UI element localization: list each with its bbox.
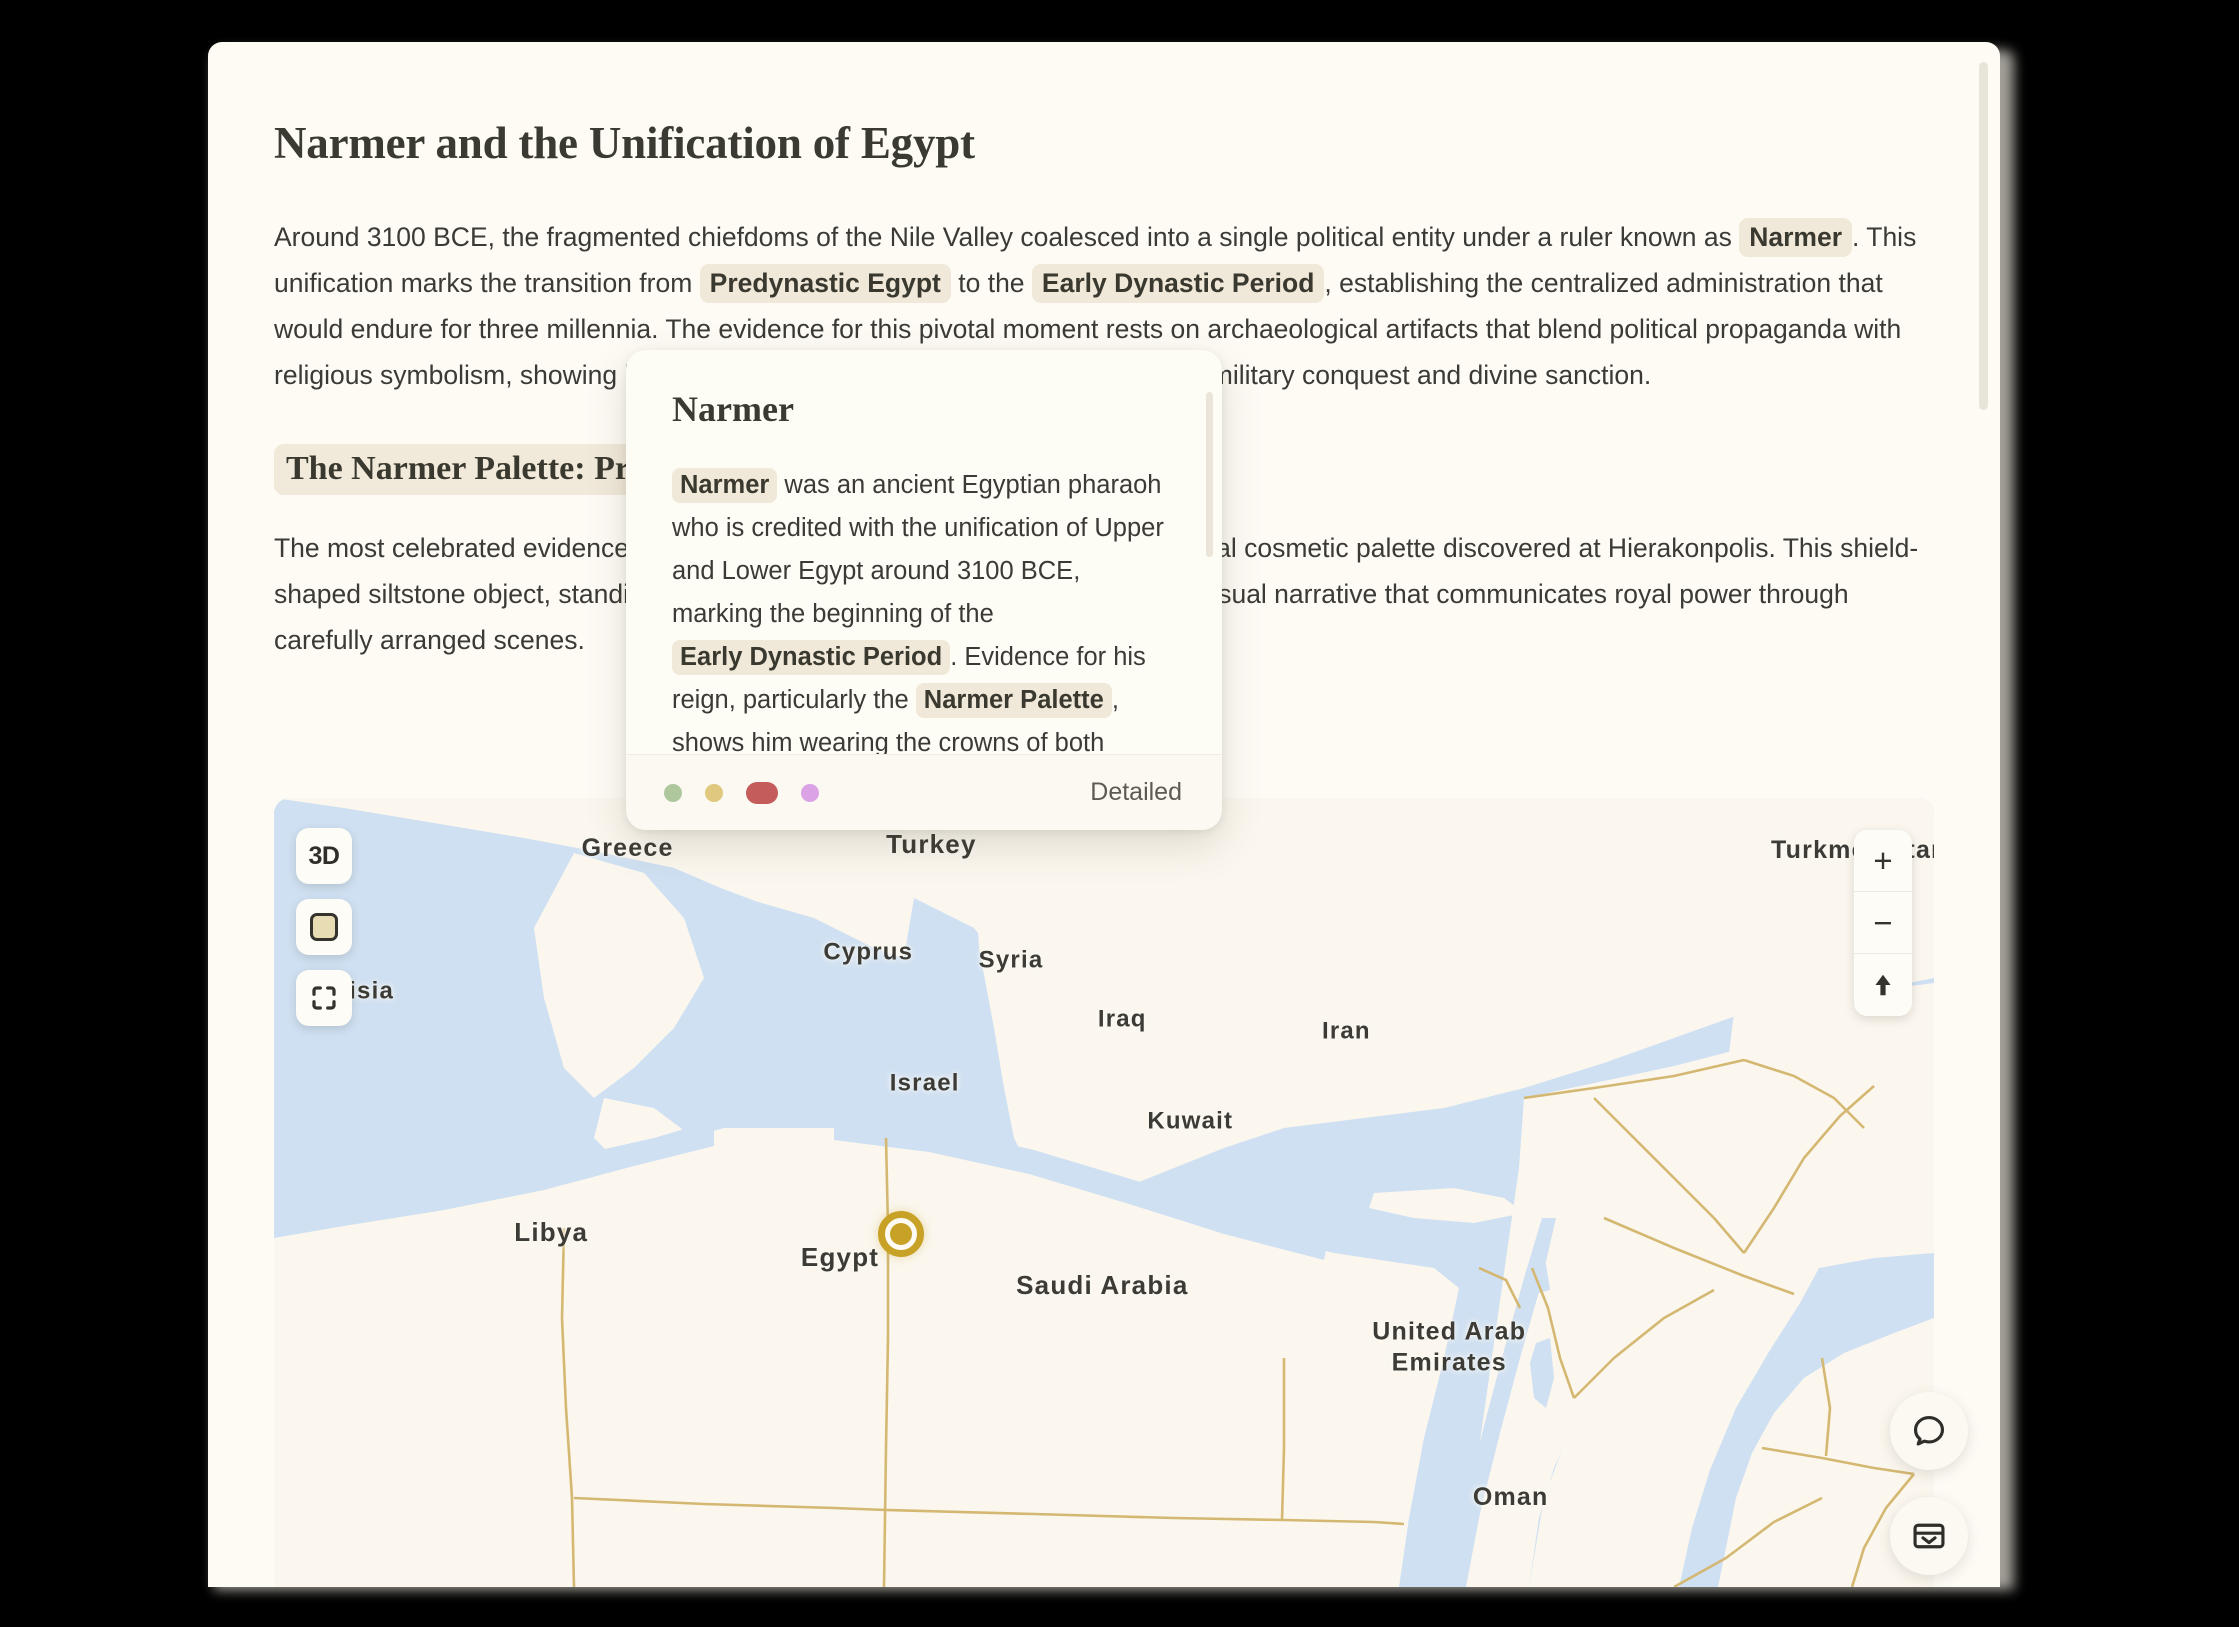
entity-early-dynastic-period[interactable]: Early Dynastic Period [1032,264,1324,303]
chat-bubble-icon [1910,1412,1948,1450]
north-arrow-icon [1870,971,1896,999]
map-controls-right: + − [1854,830,1912,1016]
map-3d-button[interactable]: 3D [296,828,352,884]
entity-narmer[interactable]: Narmer [1739,218,1852,257]
layers-square-icon [310,913,338,941]
dot-detailed[interactable] [746,782,778,804]
map-compass-button[interactable] [1854,954,1912,1016]
map-canvas[interactable]: Greece Turkey Turkmenistan Cyprus Syria … [274,798,1934,1587]
plus-icon: + [1873,844,1892,877]
page-scrollbar-thumb[interactable] [1979,62,1988,410]
dot-expert[interactable] [801,784,819,802]
popover-footer: Detailed [626,754,1222,830]
map-3d-label: 3D [309,842,340,871]
map-zoom-in-button[interactable]: + [1854,830,1912,892]
fullscreen-brackets-icon [309,983,339,1013]
inbox-button[interactable] [1890,1497,1968,1575]
egypt-location-marker-core [890,1223,912,1245]
inbox-icon [1910,1517,1948,1555]
minus-icon: − [1873,906,1892,939]
chat-bubble-button[interactable] [1890,1392,1968,1470]
entity-popover[interactable]: Narmer Narmer was an ancient Egyptian ph… [626,350,1222,830]
page-title: Narmer and the Unification of Egypt [274,116,1934,170]
text-run: Around 3100 BCE, the fragmented chiefdom… [274,222,1739,252]
map-controls-left: 3D [296,828,352,1026]
detail-level-selector [664,782,819,804]
popover-title: Narmer [672,388,1178,430]
entity-early-dynastic-period[interactable]: Early Dynastic Period [672,640,950,675]
detail-level-label: Detailed [1090,778,1182,807]
dot-concise[interactable] [664,784,682,802]
dot-standard[interactable] [705,784,723,802]
entity-predynastic-egypt[interactable]: Predynastic Egypt [700,264,951,303]
popover-body: Narmer was an ancient Egyptian pharaoh w… [672,464,1178,755]
popover-scrollbar-thumb[interactable] [1206,392,1213,557]
map-layers-button[interactable] [296,899,352,955]
entity-narmer[interactable]: Narmer [672,468,777,503]
entity-narmer-palette[interactable]: Narmer Palette [916,683,1112,718]
text-run: to the [951,268,1032,298]
map-fullscreen-button[interactable] [296,970,352,1026]
map-geometry [274,798,1934,1587]
map-zoom-out-button[interactable]: − [1854,892,1912,954]
document-page: Narmer and the Unification of Egypt Arou… [208,42,2000,1587]
popover-scroll-area: Narmer Narmer was an ancient Egyptian ph… [626,350,1222,755]
screen: Narmer and the Unification of Egypt Arou… [0,0,2239,1627]
